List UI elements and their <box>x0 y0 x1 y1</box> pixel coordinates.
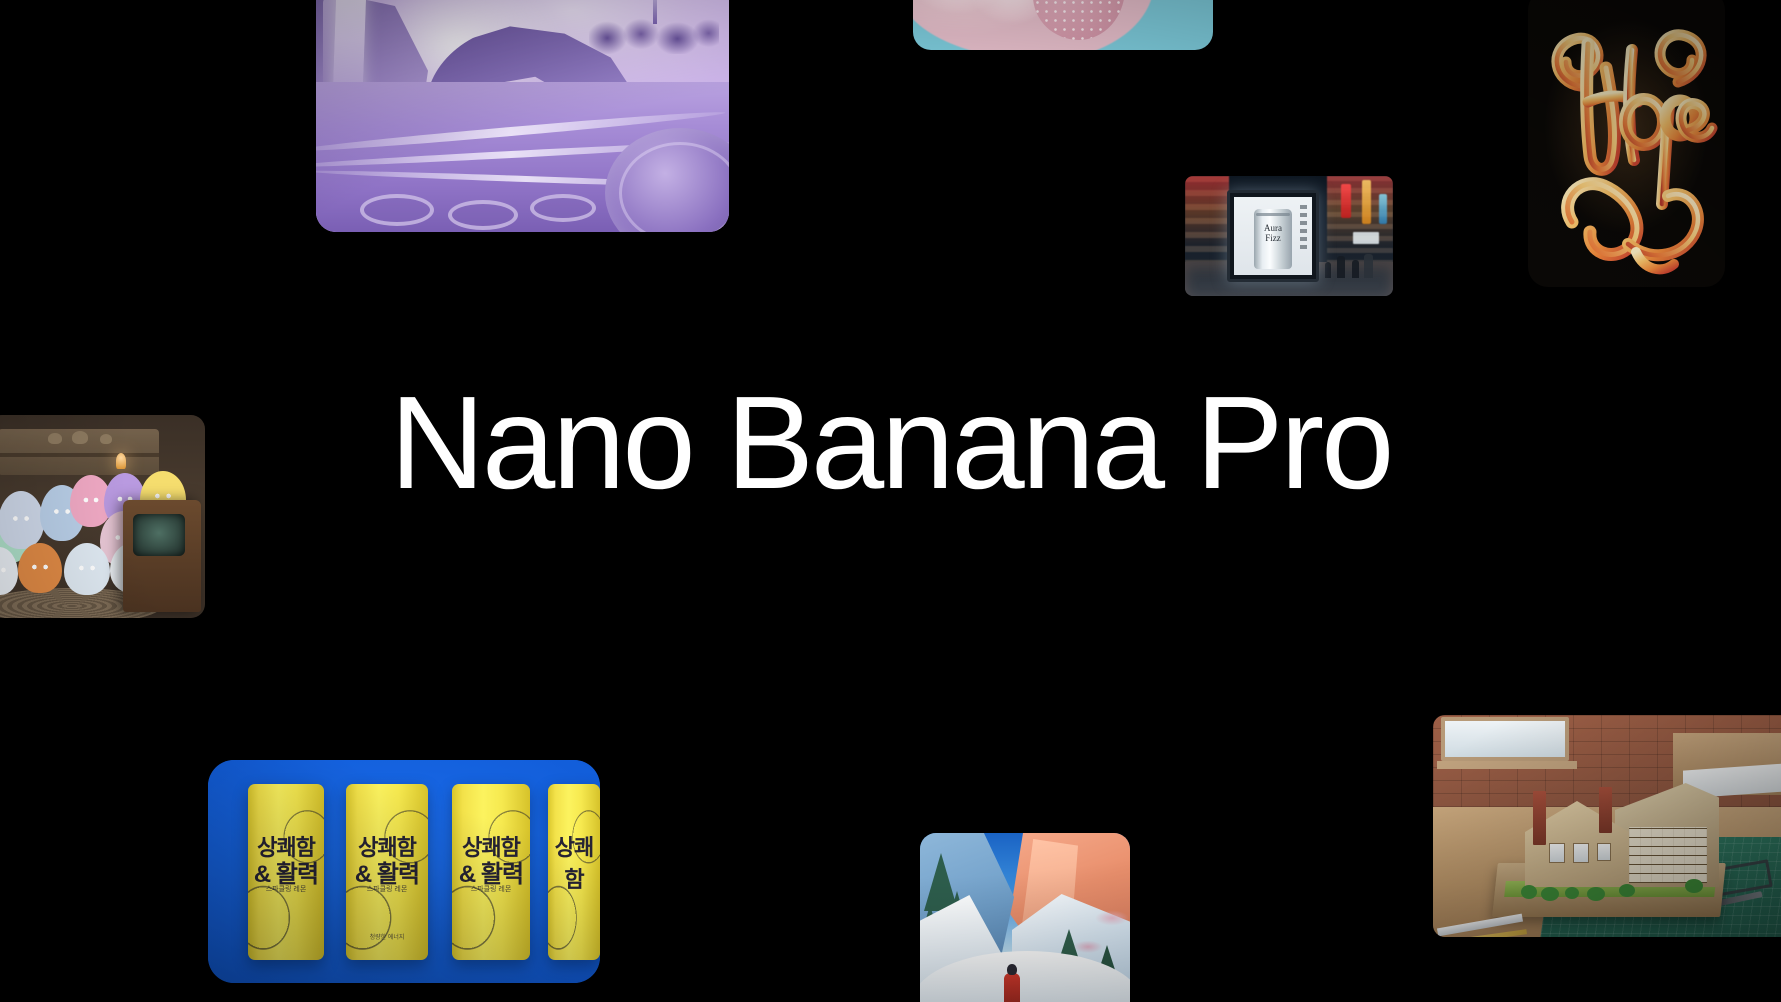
snowy-canyon-image <box>920 833 1130 1002</box>
korean-cans-image: 상쾌함 & 활력 스파클링 레몬 상쾌함 & 활력 스파클링 레몬 청량한 에너… <box>208 760 600 983</box>
beverage-can: 상쾌함 & 활력 스파클링 레몬 <box>248 784 324 960</box>
vintage-television <box>123 500 201 612</box>
gallery-card-aura-fizz[interactable]: Aura Fizz <box>1185 176 1393 296</box>
purple-landscape-image <box>316 0 729 232</box>
hope-script-glyphs <box>1528 0 1725 287</box>
gallery-card-purple-landscape[interactable] <box>316 0 729 232</box>
gallery-card-snowy-canyon[interactable] <box>920 833 1130 1002</box>
gallery-card-hope-lettering[interactable] <box>1528 0 1725 287</box>
pink-feathers-image <box>913 0 1213 50</box>
aura-fizz-image: Aura Fizz <box>1185 176 1393 296</box>
gallery-stage: Aura Fizz <box>0 0 1781 1002</box>
page-title: Nano Banana Pro <box>0 376 1781 511</box>
hope-lettering-image <box>1528 0 1725 287</box>
gallery-card-korean-cans[interactable]: 상쾌함 & 활력 스파클링 레몬 상쾌함 & 활력 스파클링 레몬 청량한 에너… <box>208 760 600 983</box>
architectural-model-image <box>1433 715 1781 937</box>
billboard-frame: Aura Fizz <box>1227 190 1319 282</box>
beverage-can: 상쾌함 & 활력 스파클링 레몬 <box>452 784 530 960</box>
gallery-card-pink-feathers[interactable] <box>913 0 1213 50</box>
beverage-can: 상쾌함 & 활력 스파클링 레몬 청량한 에너지 <box>346 784 428 960</box>
traveler-figure <box>1004 959 1020 1002</box>
gallery-card-architectural-model[interactable] <box>1433 715 1781 937</box>
beverage-can: 상쾌함 <box>548 784 600 960</box>
